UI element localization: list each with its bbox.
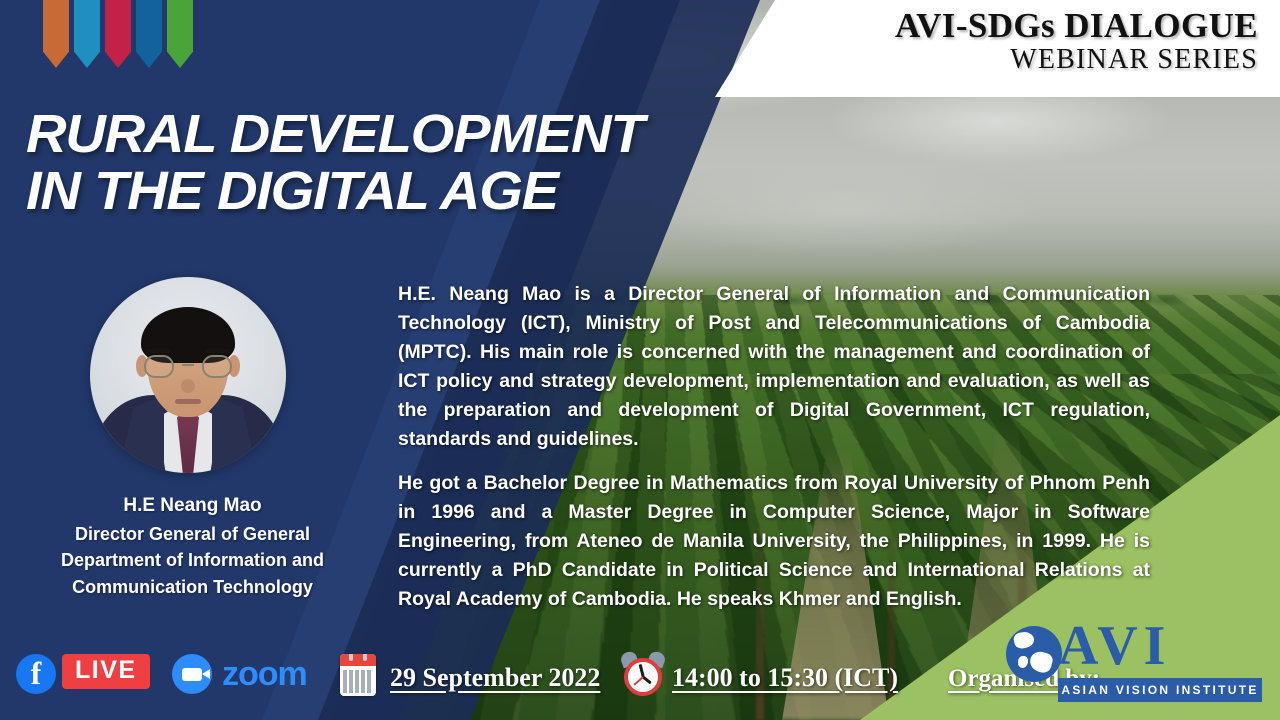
zoom-wordmark: zoom	[222, 654, 307, 694]
globe-icon	[1006, 626, 1062, 682]
series-title-line2: WEBINAR SERIES	[895, 45, 1258, 76]
bio-paragraph-1: H.E. Neang Mao is a Director General of …	[398, 280, 1150, 454]
speaker-name: H.E Neang Mao	[0, 492, 385, 521]
calendar-ring-left	[349, 654, 353, 661]
series-title-line1: AVI-SDGs DIALOGUE	[895, 6, 1258, 45]
portrait-brow-left	[147, 349, 171, 353]
live-badge: LIVE	[62, 654, 150, 689]
bio-paragraph-2: He got a Bachelor Degree in Mathematics …	[398, 469, 1150, 614]
clock-hand-second	[633, 676, 643, 686]
sdg-ribbon-green	[167, 0, 193, 68]
footer-bar: f LIVE zoom 29 September 2022 14:00 to 1…	[0, 630, 1280, 720]
sdg-ribbon-group	[43, 0, 193, 68]
speaker-avatar	[90, 277, 286, 473]
portrait-glasses-left	[144, 355, 174, 378]
event-date: 29 September 2022	[390, 663, 600, 693]
speaker-info: H.E Neang Mao Director General of Genera…	[0, 492, 385, 600]
portrait-mouth	[175, 399, 201, 404]
calendar-icon	[340, 654, 376, 696]
clock-face	[624, 658, 662, 696]
calendar-header	[340, 654, 376, 666]
calendar-ring-right	[363, 654, 367, 661]
speaker-biography: H.E. Neang Mao is a Director General of …	[398, 280, 1150, 615]
portrait-brow-right	[205, 349, 229, 353]
avi-name-bar: ASIAN VISION INSTITUTE	[1058, 678, 1262, 702]
portrait-glasses-bridge	[182, 364, 194, 366]
avi-acronym: AVI	[1058, 618, 1171, 674]
speaker-role: Director General of General Department o…	[0, 521, 385, 601]
sdg-ribbon-darkblue	[136, 0, 162, 68]
sdg-ribbon-crimson	[105, 0, 131, 68]
facebook-icon[interactable]: f	[16, 654, 56, 694]
alarm-clock-icon	[620, 652, 666, 698]
webinar-poster: AVI-SDGs DIALOGUE WEBINAR SERIES RURAL D…	[0, 0, 1280, 720]
calendar-grid	[343, 670, 373, 693]
portrait-glasses-right	[202, 355, 232, 378]
zoom-camera-glyph	[182, 668, 202, 681]
event-time: 14:00 to 15:30 (ICT)	[672, 663, 898, 693]
avi-logo: AVI ASIAN VISION INSTITUTE	[1006, 630, 1262, 702]
portrait-nose	[181, 379, 195, 393]
page-title: RURAL DEVELOPMENT IN THE DIGITAL AGE	[26, 106, 643, 220]
sdg-ribbon-lightblue	[74, 0, 100, 68]
zoom-camera-icon[interactable]	[172, 654, 212, 694]
globe-landmass	[1018, 656, 1028, 668]
avi-fullname: ASIAN VISION INSTITUTE	[1061, 683, 1258, 697]
sdg-ribbon-orange	[43, 0, 69, 68]
series-header: AVI-SDGs DIALOGUE WEBINAR SERIES	[895, 6, 1258, 76]
